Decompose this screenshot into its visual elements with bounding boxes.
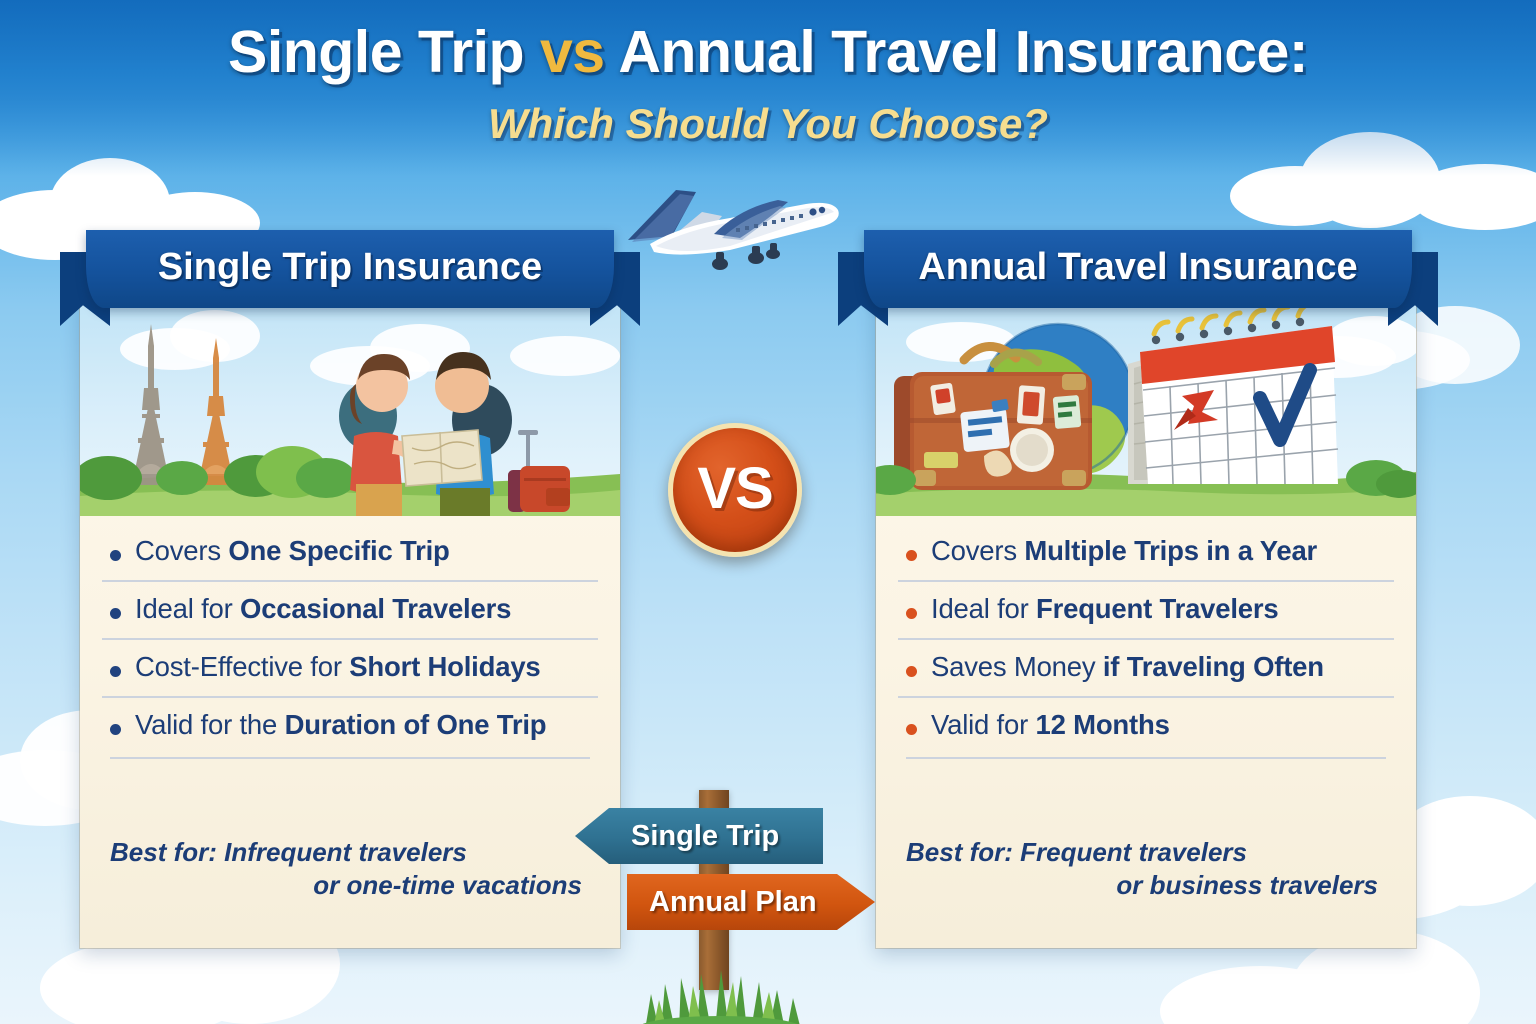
bullet-text-bold: Short Holidays — [349, 651, 540, 682]
list-item: Covers One Specific Trip — [102, 524, 598, 580]
annual-travel-banner: Annual Travel Insurance — [838, 230, 1438, 308]
bullet-text-bold: Occasional Travelers — [240, 593, 511, 624]
bullet-dot-icon — [906, 724, 917, 735]
airplane-icon — [610, 168, 850, 273]
best-for-line-2: or business travelers — [906, 869, 1386, 902]
single-trip-banner-title: Single Trip Insurance — [158, 246, 542, 293]
page-subtitle: Which Should You Choose? — [0, 100, 1536, 148]
bullet-dot-icon — [906, 550, 917, 561]
page-title: Single Trip vs Annual Travel Insurance: — [0, 18, 1536, 86]
bullet-text-regular: Valid for the — [135, 709, 285, 740]
sign-annual-plan: Annual Plan — [627, 874, 875, 930]
list-divider — [110, 757, 590, 759]
bullet-text-regular: Ideal for — [931, 593, 1036, 624]
single-trip-illustration — [80, 288, 620, 516]
bullet-dot-icon — [110, 608, 121, 619]
vs-badge: VS — [668, 423, 802, 557]
bullet-text-regular: Saves Money — [931, 651, 1103, 682]
list-item: Ideal for Occasional Travelers — [102, 580, 598, 638]
bullet-text-regular: Ideal for — [135, 593, 240, 624]
best-for-line-1: Best for: Infrequent travelers — [110, 836, 590, 869]
bullet-text-regular: Covers — [135, 535, 228, 566]
annual-travel-card: Covers Multiple Trips in a Year Ideal fo… — [876, 288, 1416, 948]
annual-travel-best-for: Best for: Frequent travelers or business… — [876, 836, 1416, 903]
bullet-text-regular: Covers — [931, 535, 1024, 566]
ribbon-body: Single Trip Insurance — [86, 230, 614, 308]
bullet-text-bold: Frequent Travelers — [1036, 593, 1278, 624]
infographic-canvas: Single Trip vs Annual Travel Insurance: … — [0, 0, 1536, 1024]
bullet-dot-icon — [110, 550, 121, 561]
annual-travel-banner-title: Annual Travel Insurance — [918, 246, 1357, 293]
single-trip-card: Covers One Specific Trip Ideal for Occas… — [80, 288, 620, 948]
bullet-text-bold: 12 Months — [1035, 709, 1169, 740]
list-item: Valid for the Duration of One Trip — [102, 696, 598, 754]
bullet-dot-icon — [906, 608, 917, 619]
list-item: Ideal for Frequent Travelers — [898, 580, 1394, 638]
calendar-icon — [1128, 304, 1338, 484]
list-divider — [906, 757, 1386, 759]
eiffel-tower-icon — [128, 324, 174, 485]
vs-badge-label: VS — [697, 455, 772, 526]
bullet-text-regular: Cost-Effective for — [135, 651, 349, 682]
grass-tuft-icon — [635, 960, 805, 1024]
sign-annual-plan-label: Annual Plan — [649, 886, 817, 919]
bullet-dot-icon — [110, 666, 121, 677]
list-item: Saves Money if Traveling Often — [898, 638, 1394, 696]
annual-travel-bullet-list: Covers Multiple Trips in a Year Ideal fo… — [876, 524, 1416, 759]
bullet-text-bold: One Specific Trip — [228, 535, 449, 566]
bullet-text-bold: if Traveling Often — [1103, 651, 1324, 682]
page-title-vs: vs — [540, 19, 605, 85]
bullet-dot-icon — [906, 666, 917, 677]
list-item: Covers Multiple Trips in a Year — [898, 524, 1394, 580]
page-title-part1: Single Trip — [228, 19, 540, 85]
bullet-text-regular: Valid for — [931, 709, 1035, 740]
ribbon-body: Annual Travel Insurance — [864, 230, 1412, 308]
single-trip-banner: Single Trip Insurance — [60, 230, 640, 308]
list-item: Valid for 12 Months — [898, 696, 1394, 754]
bullet-text-bold: Multiple Trips in a Year — [1024, 535, 1317, 566]
list-item: Cost-Effective for Short Holidays — [102, 638, 598, 696]
luggage-illustration — [508, 430, 570, 512]
best-for-line-1: Best for: Frequent travelers — [906, 836, 1386, 869]
bullet-dot-icon — [110, 724, 121, 735]
sign-single-trip-label: Single Trip — [631, 820, 779, 853]
sign-single-trip: Single Trip — [575, 808, 823, 864]
single-trip-best-for: Best for: Infrequent travelers or one-ti… — [80, 836, 620, 903]
signpost: Single Trip Annual Plan — [575, 790, 875, 1024]
map-illustration — [402, 430, 482, 486]
annual-travel-illustration — [876, 288, 1416, 516]
bullet-text-bold: Duration of One Trip — [285, 709, 547, 740]
page-title-part2: Annual Travel Insurance: — [605, 19, 1308, 85]
single-trip-bullet-list: Covers One Specific Trip Ideal for Occas… — [80, 524, 620, 759]
best-for-line-2: or one-time vacations — [110, 869, 590, 902]
